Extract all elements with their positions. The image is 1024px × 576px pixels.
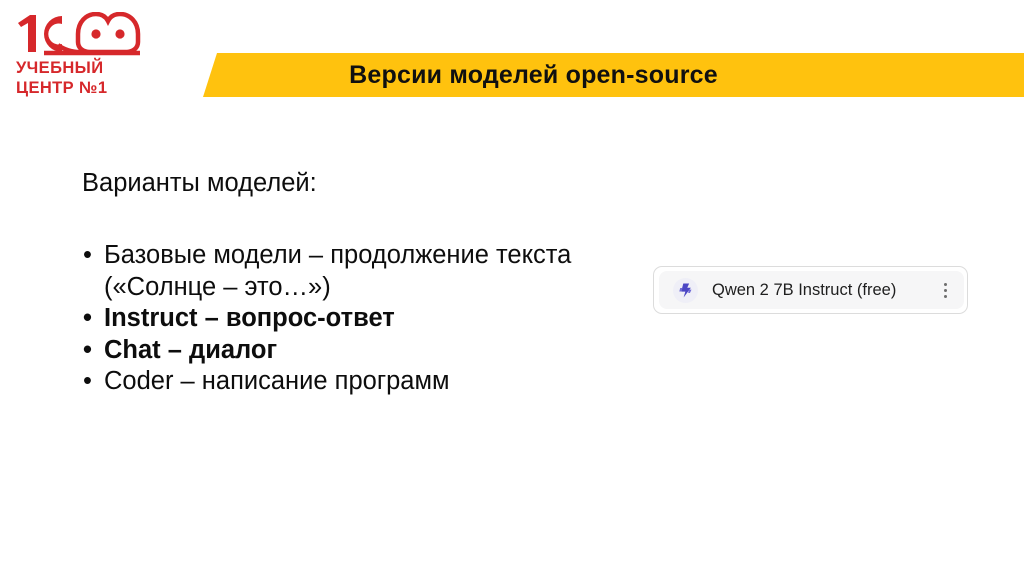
menu-dot: [944, 295, 947, 298]
bullet-marker: •: [83, 366, 92, 398]
list-item: • Coder – написание программ: [82, 366, 602, 398]
title-banner-inner: Версии моделей open-source: [203, 53, 1024, 97]
model-name-label: Qwen 2 7B Instruct (free): [712, 281, 932, 300]
list-item-label: Instruct – вопрос-ответ: [104, 304, 395, 332]
content-block: Варианты моделей: • Базовые модели – про…: [82, 168, 602, 398]
page-title: Версии моделей open-source: [349, 61, 878, 90]
qwen-logo-icon: [673, 278, 698, 303]
list-item: • Chat – диалог: [82, 335, 602, 367]
model-variants-list: • Базовые модели – продолжение текста («…: [82, 240, 602, 398]
title-banner: Версии моделей open-source: [203, 53, 1024, 97]
model-selector-card[interactable]: Qwen 2 7B Instruct (free): [653, 266, 968, 314]
list-item-label: Базовые модели – продолжение текста («Со…: [104, 241, 571, 301]
model-selector-pill[interactable]: Qwen 2 7B Instruct (free): [659, 271, 964, 309]
bullet-marker: •: [83, 240, 92, 272]
slide-canvas: УЧЕБНЫЙ ЦЕНТР №1 Версии моделей open-sou…: [0, 0, 1024, 576]
list-item: • Instruct – вопрос-ответ: [82, 303, 602, 335]
menu-dot: [944, 289, 947, 292]
bullet-marker: •: [83, 303, 92, 335]
list-item-label: Chat – диалог: [104, 336, 277, 364]
more-vertical-icon[interactable]: [932, 273, 958, 307]
brand-logo-text: УЧЕБНЫЙ ЦЕНТР №1: [16, 59, 148, 98]
list-item: • Базовые модели – продолжение текста («…: [82, 240, 602, 303]
menu-dot: [944, 283, 947, 286]
1c-owl-logo-icon: [14, 12, 146, 60]
list-item-label: Coder – написание программ: [104, 367, 450, 395]
lead-text: Варианты моделей:: [82, 168, 602, 198]
brand-logo: УЧЕБНЫЙ ЦЕНТР №1: [14, 12, 149, 104]
bullet-marker: •: [83, 335, 92, 367]
